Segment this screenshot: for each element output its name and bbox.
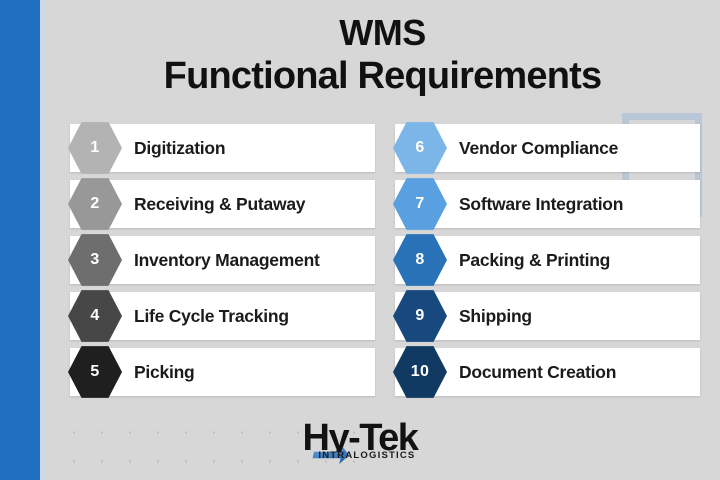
list-item-label: Inventory Management [134,236,320,284]
list-item-label: Digitization [134,124,225,172]
list-item-label: Picking [134,348,195,396]
list-item[interactable]: 6 Vendor Compliance [395,124,700,172]
list-item-label: Document Creation [459,348,616,396]
wms-requirements-poster: WMS Functional Requirements 1 Digitizati… [0,0,720,480]
title-line-2: Functional Requirements [45,54,720,98]
page-title: WMS Functional Requirements [45,12,720,98]
list-item[interactable]: 1 Digitization [70,124,375,172]
list-item-label: Packing & Printing [459,236,610,284]
title-line-1: WMS [45,12,720,54]
logo-subtitle: INTRALOGISTICS [318,450,415,461]
list-item-label: Receiving & Putaway [134,180,305,228]
logo-inner: Hy-Tek INTRALOGISTICS [303,418,418,458]
left-accent-bar [0,0,40,480]
list-item[interactable]: 5 Picking [70,348,375,396]
list-item[interactable]: 3 Inventory Management [70,236,375,284]
list-item[interactable]: 4 Life Cycle Tracking [70,292,375,340]
company-logo: Hy-Tek INTRALOGISTICS [0,418,720,458]
list-item-label: Life Cycle Tracking [134,292,289,340]
list-item[interactable]: 2 Receiving & Putaway [70,180,375,228]
list-item[interactable]: 10 Document Creation [395,348,700,396]
list-item-label: Software Integration [459,180,623,228]
list-item-label: Shipping [459,292,532,340]
requirements-column-left: 1 Digitization 2 Receiving & Putaway 3 I… [70,124,375,404]
list-item[interactable]: 7 Software Integration [395,180,700,228]
list-item-label: Vendor Compliance [459,124,618,172]
requirements-column-right: 6 Vendor Compliance 7 Software Integrati… [395,124,700,404]
list-item[interactable]: 8 Packing & Printing [395,236,700,284]
list-item[interactable]: 9 Shipping [395,292,700,340]
